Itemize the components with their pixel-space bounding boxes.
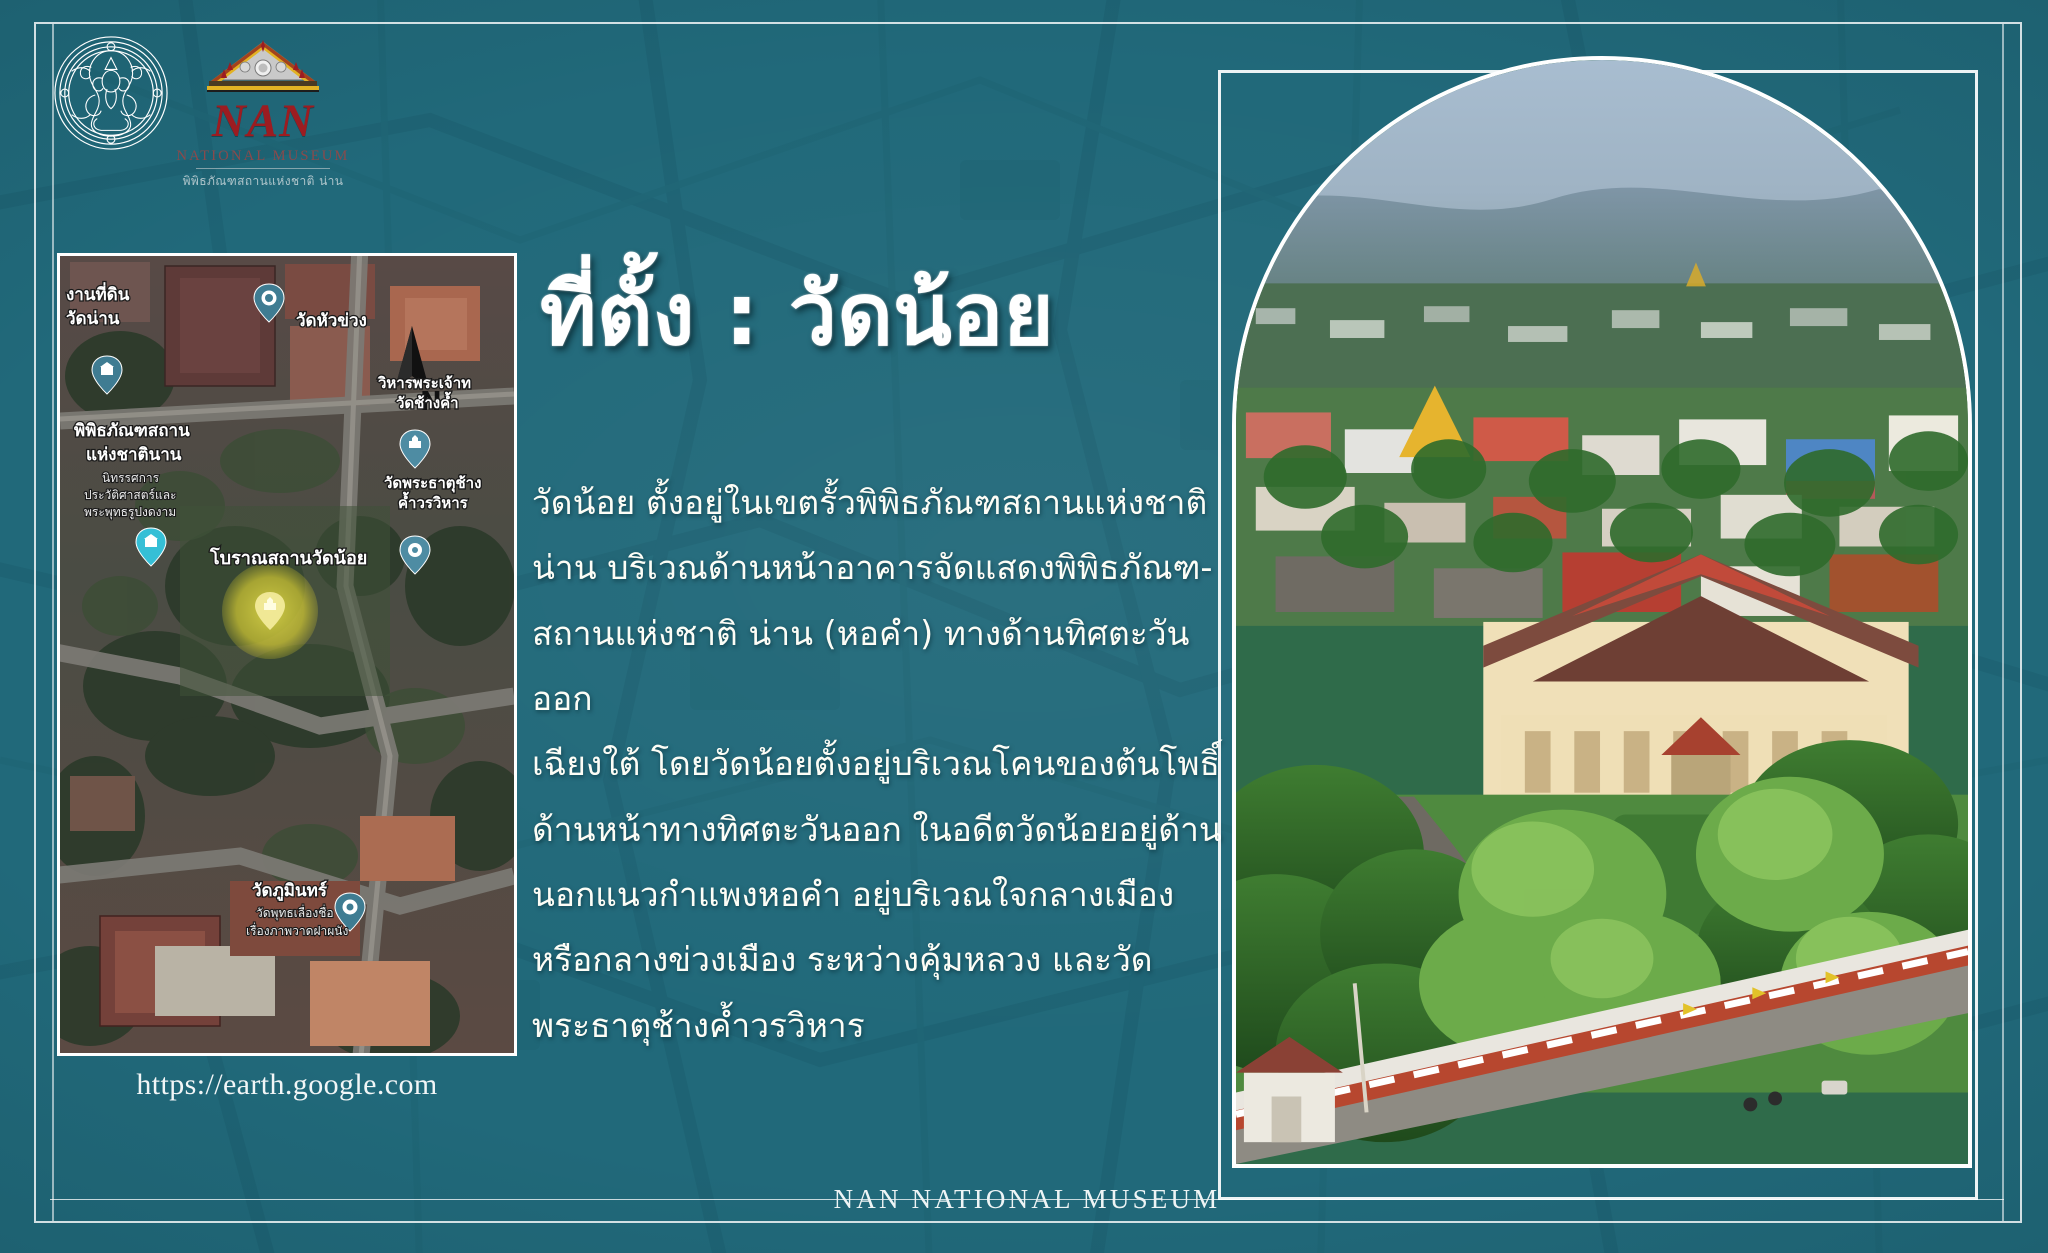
- satellite-map-image[interactable]: N: [57, 253, 517, 1056]
- nan-subtitle: NATIONAL MUSEUM: [176, 148, 349, 165]
- svg-text:ประวัติศาสตร์และ: ประวัติศาสตร์และ: [84, 488, 177, 502]
- svg-text:เรื่องภาพวาดฝาผนัง: เรื่องภาพวาดฝาผนัง: [246, 922, 348, 938]
- body-line: หรือกลางข่วงเมือง ระหว่างคุ้มหลวง และวัด: [532, 927, 1222, 992]
- body-line: นอกแนวกำแพงหอคำ อยู่บริเวณใจกลางเมือง: [532, 862, 1222, 927]
- nan-museum-logo: NAN NATIONAL MUSEUM พิพิธภัณฑสถานแห่งชาต…: [194, 34, 332, 191]
- nan-thai-subtitle: พิพิธภัณฑสถานแห่งชาติ น่าน: [183, 172, 344, 191]
- nan-wordmark: NAN: [212, 98, 314, 145]
- body-line: วัดน้อย ตั้งอยู่ในเขตรั้วพิพิธภัณฑสถานแห…: [532, 470, 1222, 535]
- body-paragraph: วัดน้อย ตั้งอยู่ในเขตรั้วพิพิธภัณฑสถานแห…: [532, 470, 1222, 1058]
- footer-title: NAN NATIONAL MUSEUM: [812, 1184, 1243, 1215]
- body-line: พระธาตุช้างค้ำวรวิหาร: [532, 993, 1222, 1058]
- frame-inner-right-line: [2002, 24, 2004, 1221]
- svg-text:วัดภูมินทร์: วัดภูมินทร์: [252, 880, 328, 902]
- svg-text:วัดหัวข่วง: วัดหัวข่วง: [296, 311, 367, 331]
- svg-text:แห่งชาตินาน: แห่งชาตินาน: [86, 445, 182, 465]
- svg-text:งานที่ดิน: งานที่ดิน: [66, 282, 130, 305]
- body-line: น่าน บริเวณด้านหน้าอาคารจัดแสดงพิพิธภัณฑ…: [532, 535, 1222, 600]
- svg-text:วัดช้างค้ำ: วัดช้างค้ำ: [396, 391, 459, 412]
- svg-text:พิพิธภัณฑสถาน: พิพิธภัณฑสถาน: [74, 421, 190, 441]
- fine-arts-department-ganesha-seal-icon: [52, 34, 170, 152]
- nan-logo-divider: [196, 168, 330, 169]
- footer: NAN NATIONAL MUSEUM: [50, 1179, 2004, 1219]
- frame-inner-left-line: [52, 24, 54, 1221]
- thai-temple-gable-icon: [201, 40, 325, 96]
- body-line: สถานแห่งชาติ น่าน (หอคำ) ทางด้านทิศตะวัน…: [532, 601, 1222, 732]
- svg-text:ค้ำวรวิหาร: ค้ำวรวิหาร: [398, 491, 469, 512]
- map-source-credit[interactable]: https://earth.google.com: [57, 1068, 517, 1102]
- slide-root: NAN NATIONAL MUSEUM พิพิธภัณฑสถานแห่งชาต…: [0, 0, 2048, 1253]
- svg-text:พระพุทธรูปงดงาม: พระพุทธรูปงดงาม: [84, 505, 176, 520]
- svg-text:วิหารพระเจ้าท: วิหารพระเจ้าท: [377, 374, 471, 392]
- body-line: ด้านหน้าทางทิศตะวันออก ในอดีตวัดน้อยอยู่…: [532, 797, 1222, 862]
- svg-text:วัดพระธาตุช้าง: วัดพระธาตุช้าง: [384, 474, 481, 493]
- svg-text:วัดพุทธเลื่องชื่อ: วัดพุทธเลื่องชื่อ: [256, 904, 334, 921]
- svg-text:โบราณสถานวัดน้อย: โบราณสถานวัดน้อย: [209, 547, 367, 569]
- body-line: เฉียงใต้ โดยวัดน้อยตั้งอยู่บริเวณโคนของต…: [532, 731, 1222, 796]
- svg-text:วัดน่าน: วัดน่าน: [66, 309, 120, 329]
- header-logo-row: NAN NATIONAL MUSEUM พิพิธภัณฑสถานแห่งชาต…: [52, 34, 332, 191]
- aerial-view-photo[interactable]: [1232, 56, 1972, 1168]
- page-title: ที่ตั้ง : วัดน้อย: [540, 266, 1054, 365]
- svg-text:นิทรรศการ: นิทรรศการ: [102, 471, 160, 485]
